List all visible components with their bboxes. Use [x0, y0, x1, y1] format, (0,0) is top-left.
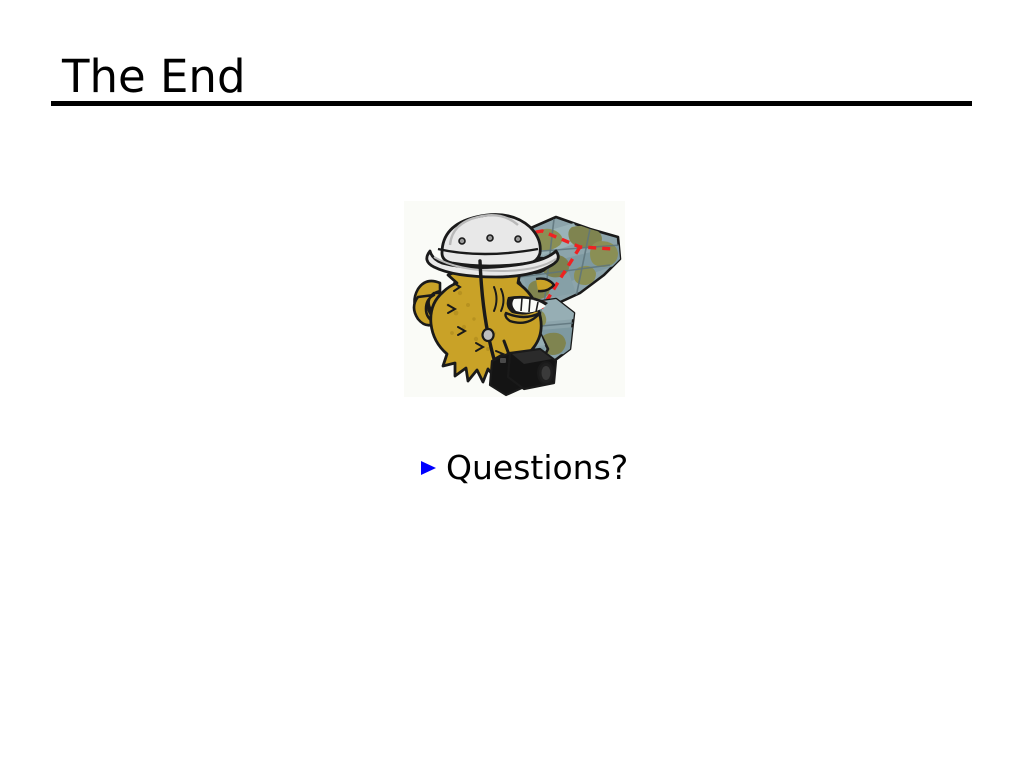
- bullet-triangle-icon: [421, 461, 436, 475]
- page-title: The End: [62, 51, 246, 103]
- title-divider: [51, 101, 972, 106]
- list-item: Questions?: [421, 448, 628, 488]
- slide-canvas: The End: [0, 0, 1024, 768]
- puffy-traveler-image: [404, 201, 625, 397]
- puffy-illustration: [404, 201, 625, 397]
- bullet-label: Questions?: [446, 448, 628, 488]
